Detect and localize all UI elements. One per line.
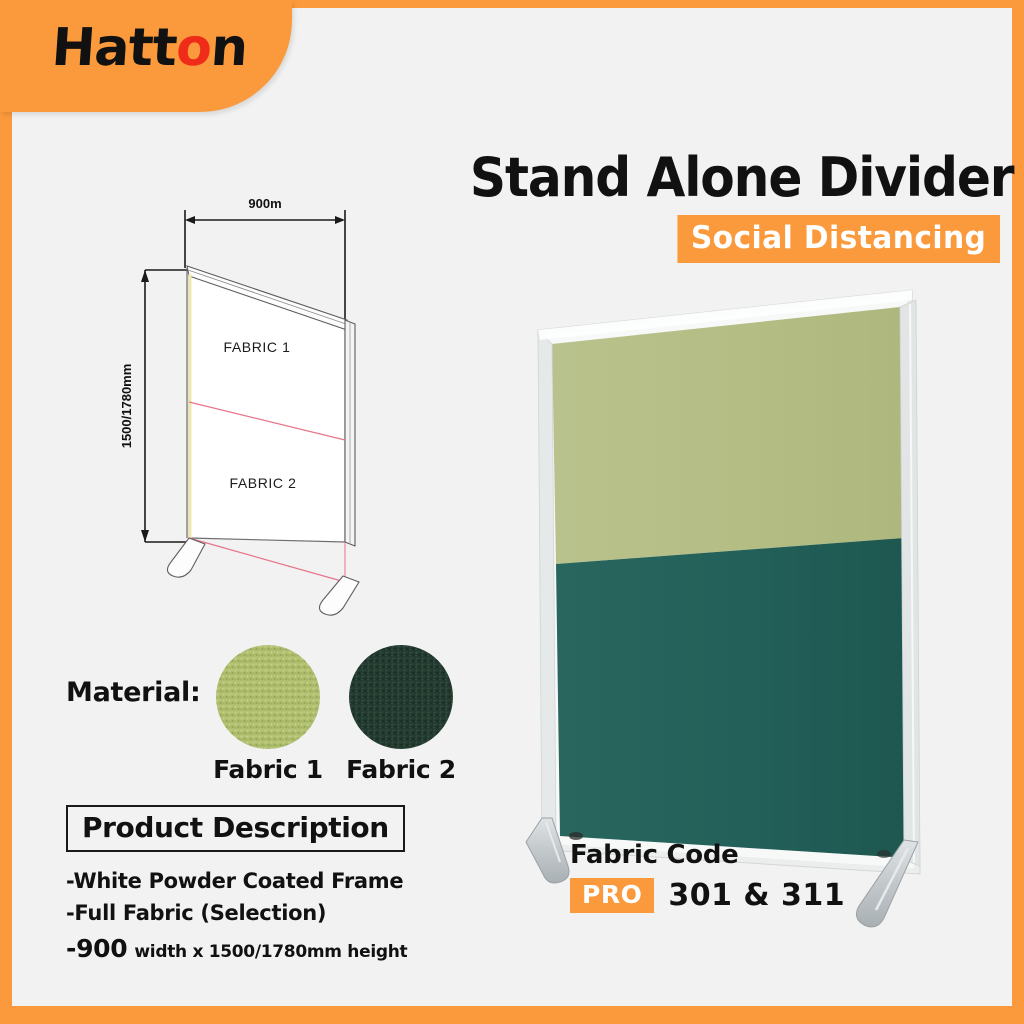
product-upper-panel [552,307,904,564]
description-size-prefix: -900 [66,934,127,963]
brand-logo: Hatton [50,18,249,78]
width-arrow-left [185,216,195,224]
fabric-code-row: PRO 301 & 311 [570,878,970,913]
height-dimension-label: 1500/1780mm [119,364,134,449]
fabric-code-section: Fabric Code PRO 301 & 311 [570,840,970,913]
technical-drawing-svg: 900m 1500/1780mm [105,190,415,630]
description-line-3: -900 width x 1500/1780mm height [66,930,486,968]
brand-name-prefix: Hatt [50,18,179,78]
page-title: Stand Alone Divider [470,150,1000,206]
drawing-foot-right [319,576,359,615]
drawing-fabric2-label: FABRIC 2 [229,475,296,491]
description-line-1: -White Powder Coated Frame [66,866,486,898]
product-description-heading: Product Description [66,805,405,852]
height-arrow-top [141,270,149,282]
fabric-code-badge: PRO [570,878,654,913]
width-dimension-label: 900m [248,196,281,211]
technical-drawing: 900m 1500/1780mm [105,190,415,630]
drawing-foot-left [167,538,205,577]
fabric-code-heading: Fabric Code [570,840,970,870]
description-line-2: -Full Fabric (Selection) [66,898,486,930]
subtitle-band: Social Distancing [678,215,1000,263]
product-photo [480,270,950,930]
drawing-bottom-edge [189,538,345,582]
fabric-swatch-2[interactable] [349,645,453,749]
fabric-swatch-1-texture [216,645,320,749]
fabric-swatch-2-label: Fabric 2 [331,755,471,784]
poster-canvas: Hatton Stand Alone Divider Social Distan… [0,0,1024,1024]
brand-banner: Hatton [0,0,292,112]
product-description-list: -White Powder Coated Frame -Full Fabric … [66,866,486,968]
product-photo-svg [480,270,950,930]
product-description-section: Product Description -White Powder Coated… [66,805,486,968]
description-size-rest: width x 1500/1780mm height [134,942,407,962]
brand-name-accent: o [174,18,213,78]
fabric-swatch-1-label: Fabric 1 [198,755,338,784]
product-lower-panel [556,538,908,858]
product-base-clip-left [569,832,583,840]
width-arrow-right [335,216,345,224]
fabric-swatch-1[interactable] [216,645,320,749]
fabric-code-values: 301 & 311 [668,878,845,913]
height-arrow-bottom [141,530,149,542]
fabric-swatch-2-texture [349,645,453,749]
title-block: Stand Alone Divider Social Distancing [430,150,1000,263]
drawing-fabric1-label: FABRIC 1 [223,339,290,355]
material-heading: Material: [66,677,200,708]
brand-name-suffix: n [209,18,249,78]
material-section: Material: [66,645,486,805]
